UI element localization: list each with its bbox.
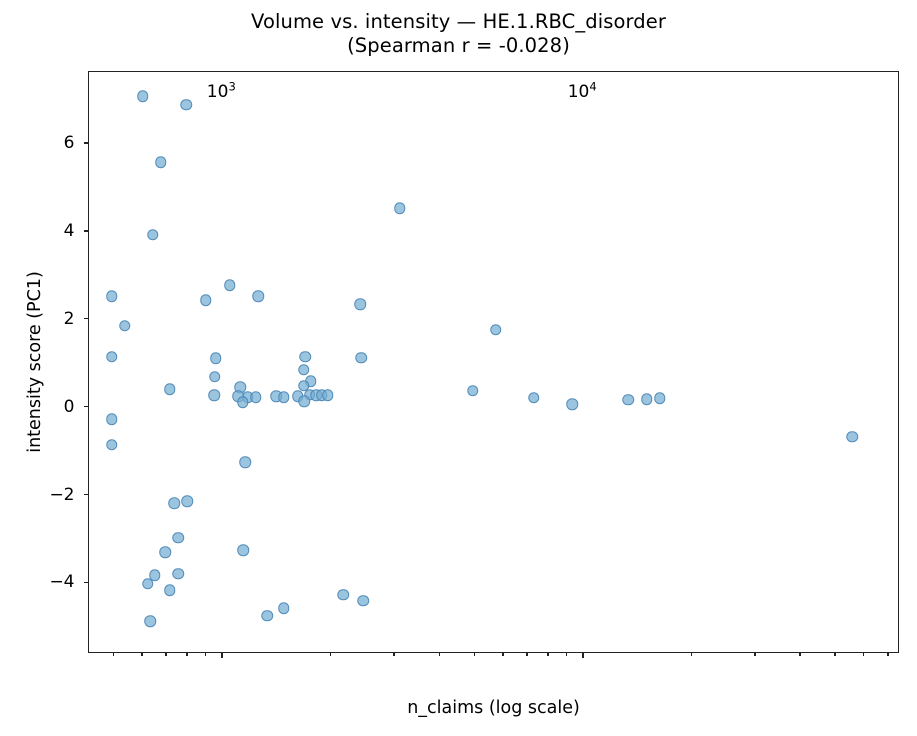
scatter-point <box>654 393 666 405</box>
scatter-point <box>300 351 312 363</box>
x-axis-minor-tick <box>754 652 755 656</box>
scatter-point <box>208 390 220 402</box>
scatter-point <box>155 156 167 168</box>
x-axis-tick-label: 103 <box>207 82 236 102</box>
x-axis-minor-tick <box>393 652 394 656</box>
y-axis-tick-label: 0 <box>64 397 75 417</box>
x-axis-minor-tick <box>330 652 331 656</box>
scatter-point <box>160 547 172 559</box>
scatter-point <box>182 496 194 508</box>
y-axis-tick: 6 <box>84 142 90 143</box>
x-axis-minor-tick <box>439 652 440 656</box>
data-points-layer <box>89 72 898 652</box>
scatter-point <box>622 394 634 406</box>
y-axis-tick: 2 <box>84 318 90 319</box>
x-axis-minor-tick <box>474 652 475 656</box>
scatter-point <box>467 385 479 397</box>
y-axis-tick: −2 <box>84 494 90 495</box>
x-axis-minor-tick <box>863 652 864 656</box>
scatter-point <box>298 364 310 376</box>
x-axis-minor-tick <box>526 652 527 656</box>
scatter-plot-figure: Volume vs. intensity — HE.1.RBC_disorder… <box>0 0 917 736</box>
chart-title-block: Volume vs. intensity — HE.1.RBC_disorder… <box>0 10 917 58</box>
scatter-point <box>846 431 858 443</box>
scatter-point <box>239 456 251 468</box>
x-axis-minor-tick <box>834 652 835 656</box>
scatter-point <box>144 615 156 627</box>
scatter-point <box>322 390 334 402</box>
scatter-point <box>252 290 264 302</box>
x-axis-minor-tick <box>887 652 888 656</box>
y-axis-tick-label: −4 <box>49 572 74 592</box>
scatter-point <box>106 290 118 302</box>
x-axis-major-tick <box>582 652 583 658</box>
scatter-point <box>299 395 311 407</box>
scatter-point <box>261 610 273 622</box>
scatter-point <box>278 602 290 614</box>
scatter-point <box>173 568 185 580</box>
scatter-point <box>164 585 176 597</box>
scatter-point <box>278 391 290 403</box>
scatter-point <box>168 498 180 510</box>
scatter-point <box>137 90 149 102</box>
y-axis-tick-label: −2 <box>49 485 74 505</box>
scatter-point <box>106 351 118 363</box>
scatter-point <box>147 229 159 241</box>
x-axis-label: n_claims (log scale) <box>88 698 899 718</box>
x-axis-major-tick <box>221 652 222 658</box>
x-axis-minor-tick <box>547 652 548 656</box>
scatter-point <box>357 595 369 607</box>
y-axis-label: intensity score (PC1) <box>22 71 48 653</box>
y-axis-tick: −4 <box>84 582 90 583</box>
x-axis-minor-tick <box>502 652 503 656</box>
chart-title: Volume vs. intensity — HE.1.RBC_disorder <box>0 10 917 34</box>
scatter-point <box>355 298 367 310</box>
y-axis-tick: 4 <box>84 230 90 231</box>
x-axis-minor-tick <box>799 652 800 656</box>
y-axis-tick-label: 2 <box>64 309 75 329</box>
y-axis-tick: 0 <box>84 406 90 407</box>
y-axis-tick-label: 6 <box>64 133 75 153</box>
chart-subtitle: (Spearman r = -0.028) <box>0 34 917 58</box>
scatter-point <box>250 391 262 403</box>
x-axis-minor-tick <box>691 652 692 656</box>
x-axis-minor-tick <box>566 652 567 656</box>
scatter-point <box>142 578 154 590</box>
scatter-point <box>355 352 367 364</box>
scatter-point <box>338 589 350 601</box>
scatter-point <box>173 532 185 544</box>
x-axis-minor-tick <box>165 652 166 656</box>
scatter-point <box>164 383 176 395</box>
scatter-point <box>181 99 193 111</box>
x-axis-minor-tick <box>141 652 142 656</box>
scatter-point <box>209 371 221 383</box>
scatter-point <box>210 353 222 365</box>
scatter-point <box>106 413 118 425</box>
scatter-point <box>641 394 653 406</box>
scatter-point <box>567 398 579 410</box>
x-axis-tick-label: 104 <box>568 82 597 102</box>
x-axis-minor-tick <box>186 652 187 656</box>
scatter-point <box>237 544 249 556</box>
x-axis-minor-tick <box>205 652 206 656</box>
scatter-point <box>237 397 249 409</box>
scatter-point <box>224 279 236 291</box>
plot-axes: 6420−2−4103104 <box>88 71 899 653</box>
scatter-point <box>394 202 406 214</box>
scatter-point <box>528 392 540 404</box>
scatter-point <box>106 439 118 451</box>
scatter-point <box>119 320 131 332</box>
x-axis-minor-tick <box>113 652 114 656</box>
scatter-point <box>490 324 502 336</box>
y-axis-tick-label: 4 <box>64 221 75 241</box>
scatter-point <box>200 295 212 307</box>
